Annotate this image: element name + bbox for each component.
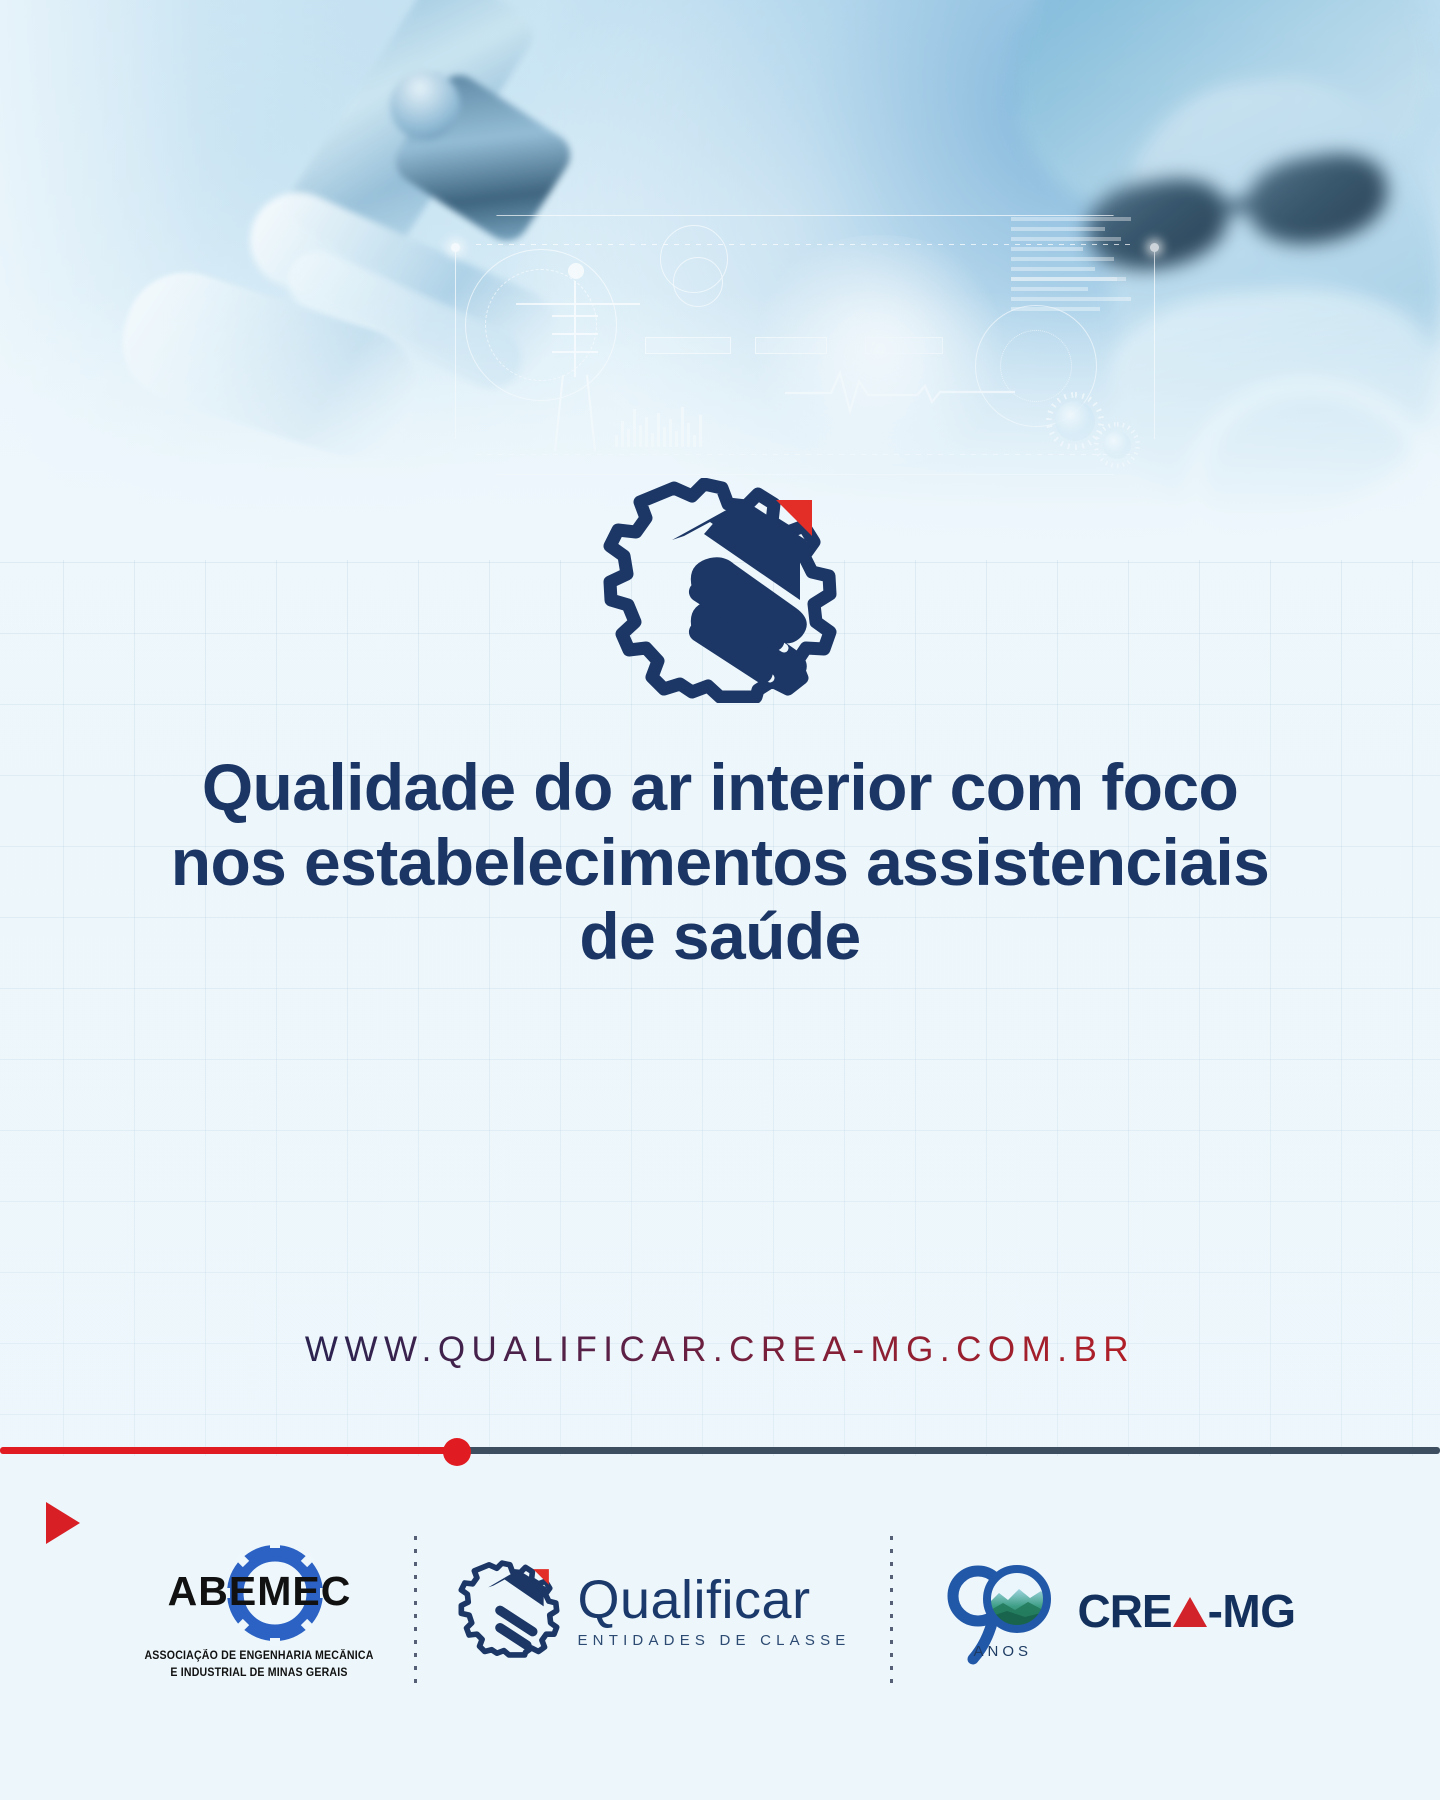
crea-mg-wordmark: CRE-MG bbox=[1077, 1584, 1295, 1638]
crea-mg-suffix: -MG bbox=[1208, 1584, 1296, 1638]
footer-bar: ABEMEC ASSOCIAÇÃO DE ENGENHARIA MECÂNICA… bbox=[0, 1456, 1440, 1800]
qualificar-wordmark: Qualificar bbox=[577, 1573, 850, 1627]
headline-line-3: de saúde bbox=[120, 899, 1320, 974]
headline-line-1: Qualidade do ar interior com foco bbox=[120, 750, 1320, 825]
crea-text: CRE bbox=[1077, 1584, 1171, 1638]
dotted-separator bbox=[414, 1536, 417, 1686]
dotted-separator bbox=[890, 1536, 893, 1686]
logo-crea-mg[interactable]: ANOS 90 CRE-MG bbox=[933, 1551, 1295, 1671]
logo-abemec[interactable]: ABEMEC ASSOCIAÇÃO DE ENGENHARIA MECÂNICA… bbox=[144, 1536, 374, 1686]
logo-qualificar[interactable]: Qualificar ENTIDADES DE CLASSE bbox=[457, 1560, 850, 1663]
crea-triangle-a-icon bbox=[1173, 1597, 1207, 1627]
abemec-tagline-line2: E INDUSTRIAL DE MINAS GERAIS bbox=[171, 1667, 348, 1679]
divider-rule bbox=[0, 1444, 1440, 1456]
rule-red-segment bbox=[0, 1447, 465, 1454]
page-title: Qualidade do ar interior com foco nos es… bbox=[120, 750, 1320, 974]
crea-90-anos-icon: ANOS 90 bbox=[933, 1551, 1065, 1671]
rule-dark-segment bbox=[455, 1447, 1440, 1454]
crea-anos-label: ANOS bbox=[973, 1643, 1032, 1660]
abemec-tagline: ASSOCIAÇÃO DE ENGENHARIA MECÂNICA E INDU… bbox=[141, 1648, 378, 1681]
hero-image bbox=[0, 0, 1440, 560]
abemec-wordmark: ABEMEC bbox=[144, 1568, 374, 1615]
headline-line-2: nos estabelecimentos assistenciais bbox=[120, 825, 1320, 900]
website-url[interactable]: WWW.QUALIFICAR.CREA-MG.COM.BR bbox=[120, 1330, 1320, 1370]
poster-canvas: Qualidade do ar interior com foco nos es… bbox=[0, 0, 1440, 1800]
qualificar-gear-mark bbox=[600, 478, 840, 703]
abemec-tagline-line1: ASSOCIAÇÃO DE ENGENHARIA MECÂNICA bbox=[145, 1650, 374, 1662]
qualificar-gear-icon bbox=[457, 1560, 561, 1663]
qualificar-tagline: ENTIDADES DE CLASSE bbox=[577, 1632, 850, 1649]
rule-dot-marker bbox=[443, 1438, 471, 1466]
partner-logos: ABEMEC ASSOCIAÇÃO DE ENGENHARIA MECÂNICA… bbox=[0, 1496, 1440, 1726]
